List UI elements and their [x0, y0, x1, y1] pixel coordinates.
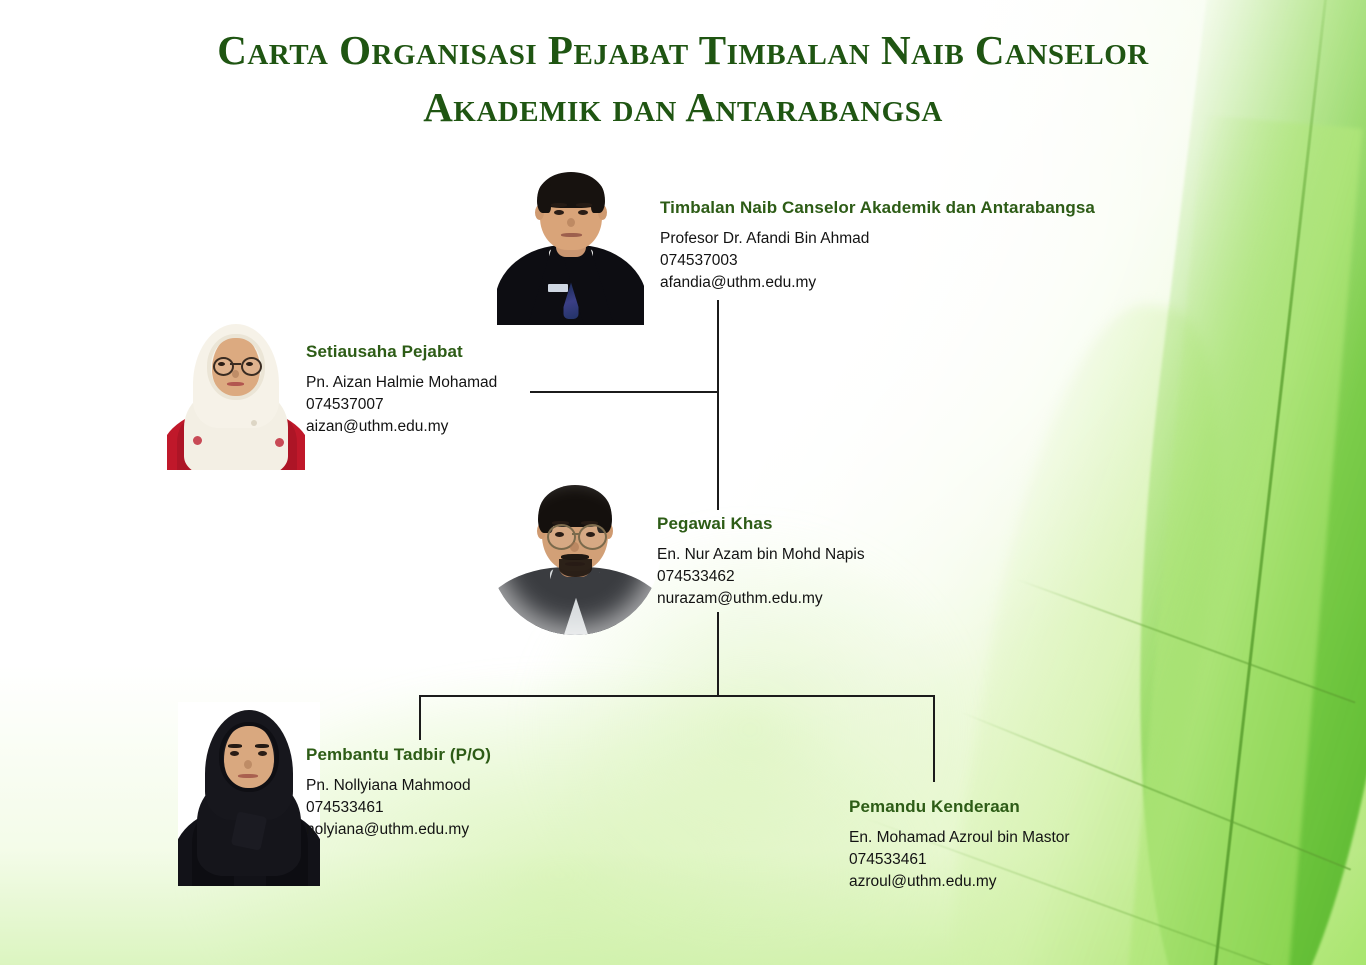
page-title-line-2: Akademik dan Antarabangsa: [0, 79, 1366, 136]
node-tnc-email: afandia@uthm.edu.my: [660, 272, 1095, 294]
node-tnc: Timbalan Naib Canselor Akademik dan Anta…: [660, 198, 1095, 294]
node-pemandu-kenderaan-info: En. Mohamad Azroul bin Mastor 074533461 …: [849, 827, 1070, 893]
node-setiausaha-name: Pn. Aizan Halmie Mohamad: [306, 372, 497, 394]
avatar-tnc: [497, 157, 644, 325]
node-pemandu-kenderaan-email: azroul@uthm.edu.my: [849, 871, 1070, 893]
node-pegawai-khas-info: En. Nur Azam bin Mohd Napis 074533462 nu…: [657, 544, 865, 610]
node-pegawai-khas-email: nurazam@uthm.edu.my: [657, 588, 865, 610]
node-tnc-role: Timbalan Naib Canselor Akademik dan Anta…: [660, 198, 1095, 218]
leaf-vein-diagonal-1: [1017, 578, 1356, 703]
node-pemandu-kenderaan-phone: 074533461: [849, 849, 1070, 871]
avatar-pembantu-tadbir: [178, 702, 320, 886]
node-setiausaha-email: aizan@uthm.edu.my: [306, 416, 497, 438]
org-chart-canvas: Carta Organisasi Pejabat Timbalan Naib C…: [0, 0, 1366, 965]
page-title-line-1: Carta Organisasi Pejabat Timbalan Naib C…: [0, 22, 1366, 79]
node-pembantu-tadbir-name: Pn. Nollyiana Mahmood: [306, 775, 491, 797]
connector-branch-setiausaha: [530, 391, 719, 393]
node-pegawai-khas: Pegawai Khas En. Nur Azam bin Mohd Napis…: [657, 514, 865, 610]
node-pegawai-khas-name: En. Nur Azam bin Mohd Napis: [657, 544, 865, 566]
leaf-blade-main-icon: [1079, 0, 1366, 965]
node-pemandu-kenderaan-role: Pemandu Kenderaan: [849, 797, 1070, 817]
leaf-blade-mid-icon: [1118, 115, 1363, 965]
connector-trunk-tnc-upper: [717, 300, 719, 392]
node-setiausaha-role: Setiausaha Pejabat: [306, 342, 497, 362]
node-pegawai-khas-phone: 074533462: [657, 566, 865, 588]
node-pembantu-tadbir-role: Pembantu Tadbir (P/O): [306, 745, 491, 765]
node-pemandu-kenderaan: Pemandu Kenderaan En. Mohamad Azroul bin…: [849, 797, 1070, 893]
node-pemandu-kenderaan-name: En. Mohamad Azroul bin Mastor: [849, 827, 1070, 849]
page-title: Carta Organisasi Pejabat Timbalan Naib C…: [0, 22, 1366, 135]
avatar-pegawai-khas: [489, 463, 661, 635]
node-pembantu-tadbir: Pembantu Tadbir (P/O) Pn. Nollyiana Mahm…: [306, 745, 491, 841]
connector-drop-pemandu-kenderaan: [933, 695, 935, 782]
node-tnc-info: Profesor Dr. Afandi Bin Ahmad 074537003 …: [660, 228, 1095, 294]
connector-split-bar: [419, 695, 935, 697]
node-pembantu-tadbir-info: Pn. Nollyiana Mahmood 074533461 nolyiana…: [306, 775, 491, 841]
node-pembantu-tadbir-phone: 074533461: [306, 797, 491, 819]
connector-drop-pembantu-tadbir: [419, 695, 421, 740]
connector-trunk-pegawai-khas-lower: [717, 612, 719, 697]
node-setiausaha-info: Pn. Aizan Halmie Mohamad 074537007 aizan…: [306, 372, 497, 438]
node-tnc-name: Profesor Dr. Afandi Bin Ahmad: [660, 228, 1095, 250]
node-pembantu-tadbir-email: nolyiana@uthm.edu.my: [306, 819, 491, 841]
connector-trunk-to-pegawai-khas: [717, 392, 719, 510]
node-setiausaha: Setiausaha Pejabat Pn. Aizan Halmie Moha…: [306, 342, 497, 438]
node-tnc-phone: 074537003: [660, 250, 1095, 272]
leaf-vein-main: [1206, 0, 1331, 965]
node-pegawai-khas-role: Pegawai Khas: [657, 514, 865, 534]
avatar-setiausaha: [167, 312, 305, 470]
node-setiausaha-phone: 074537007: [306, 394, 497, 416]
